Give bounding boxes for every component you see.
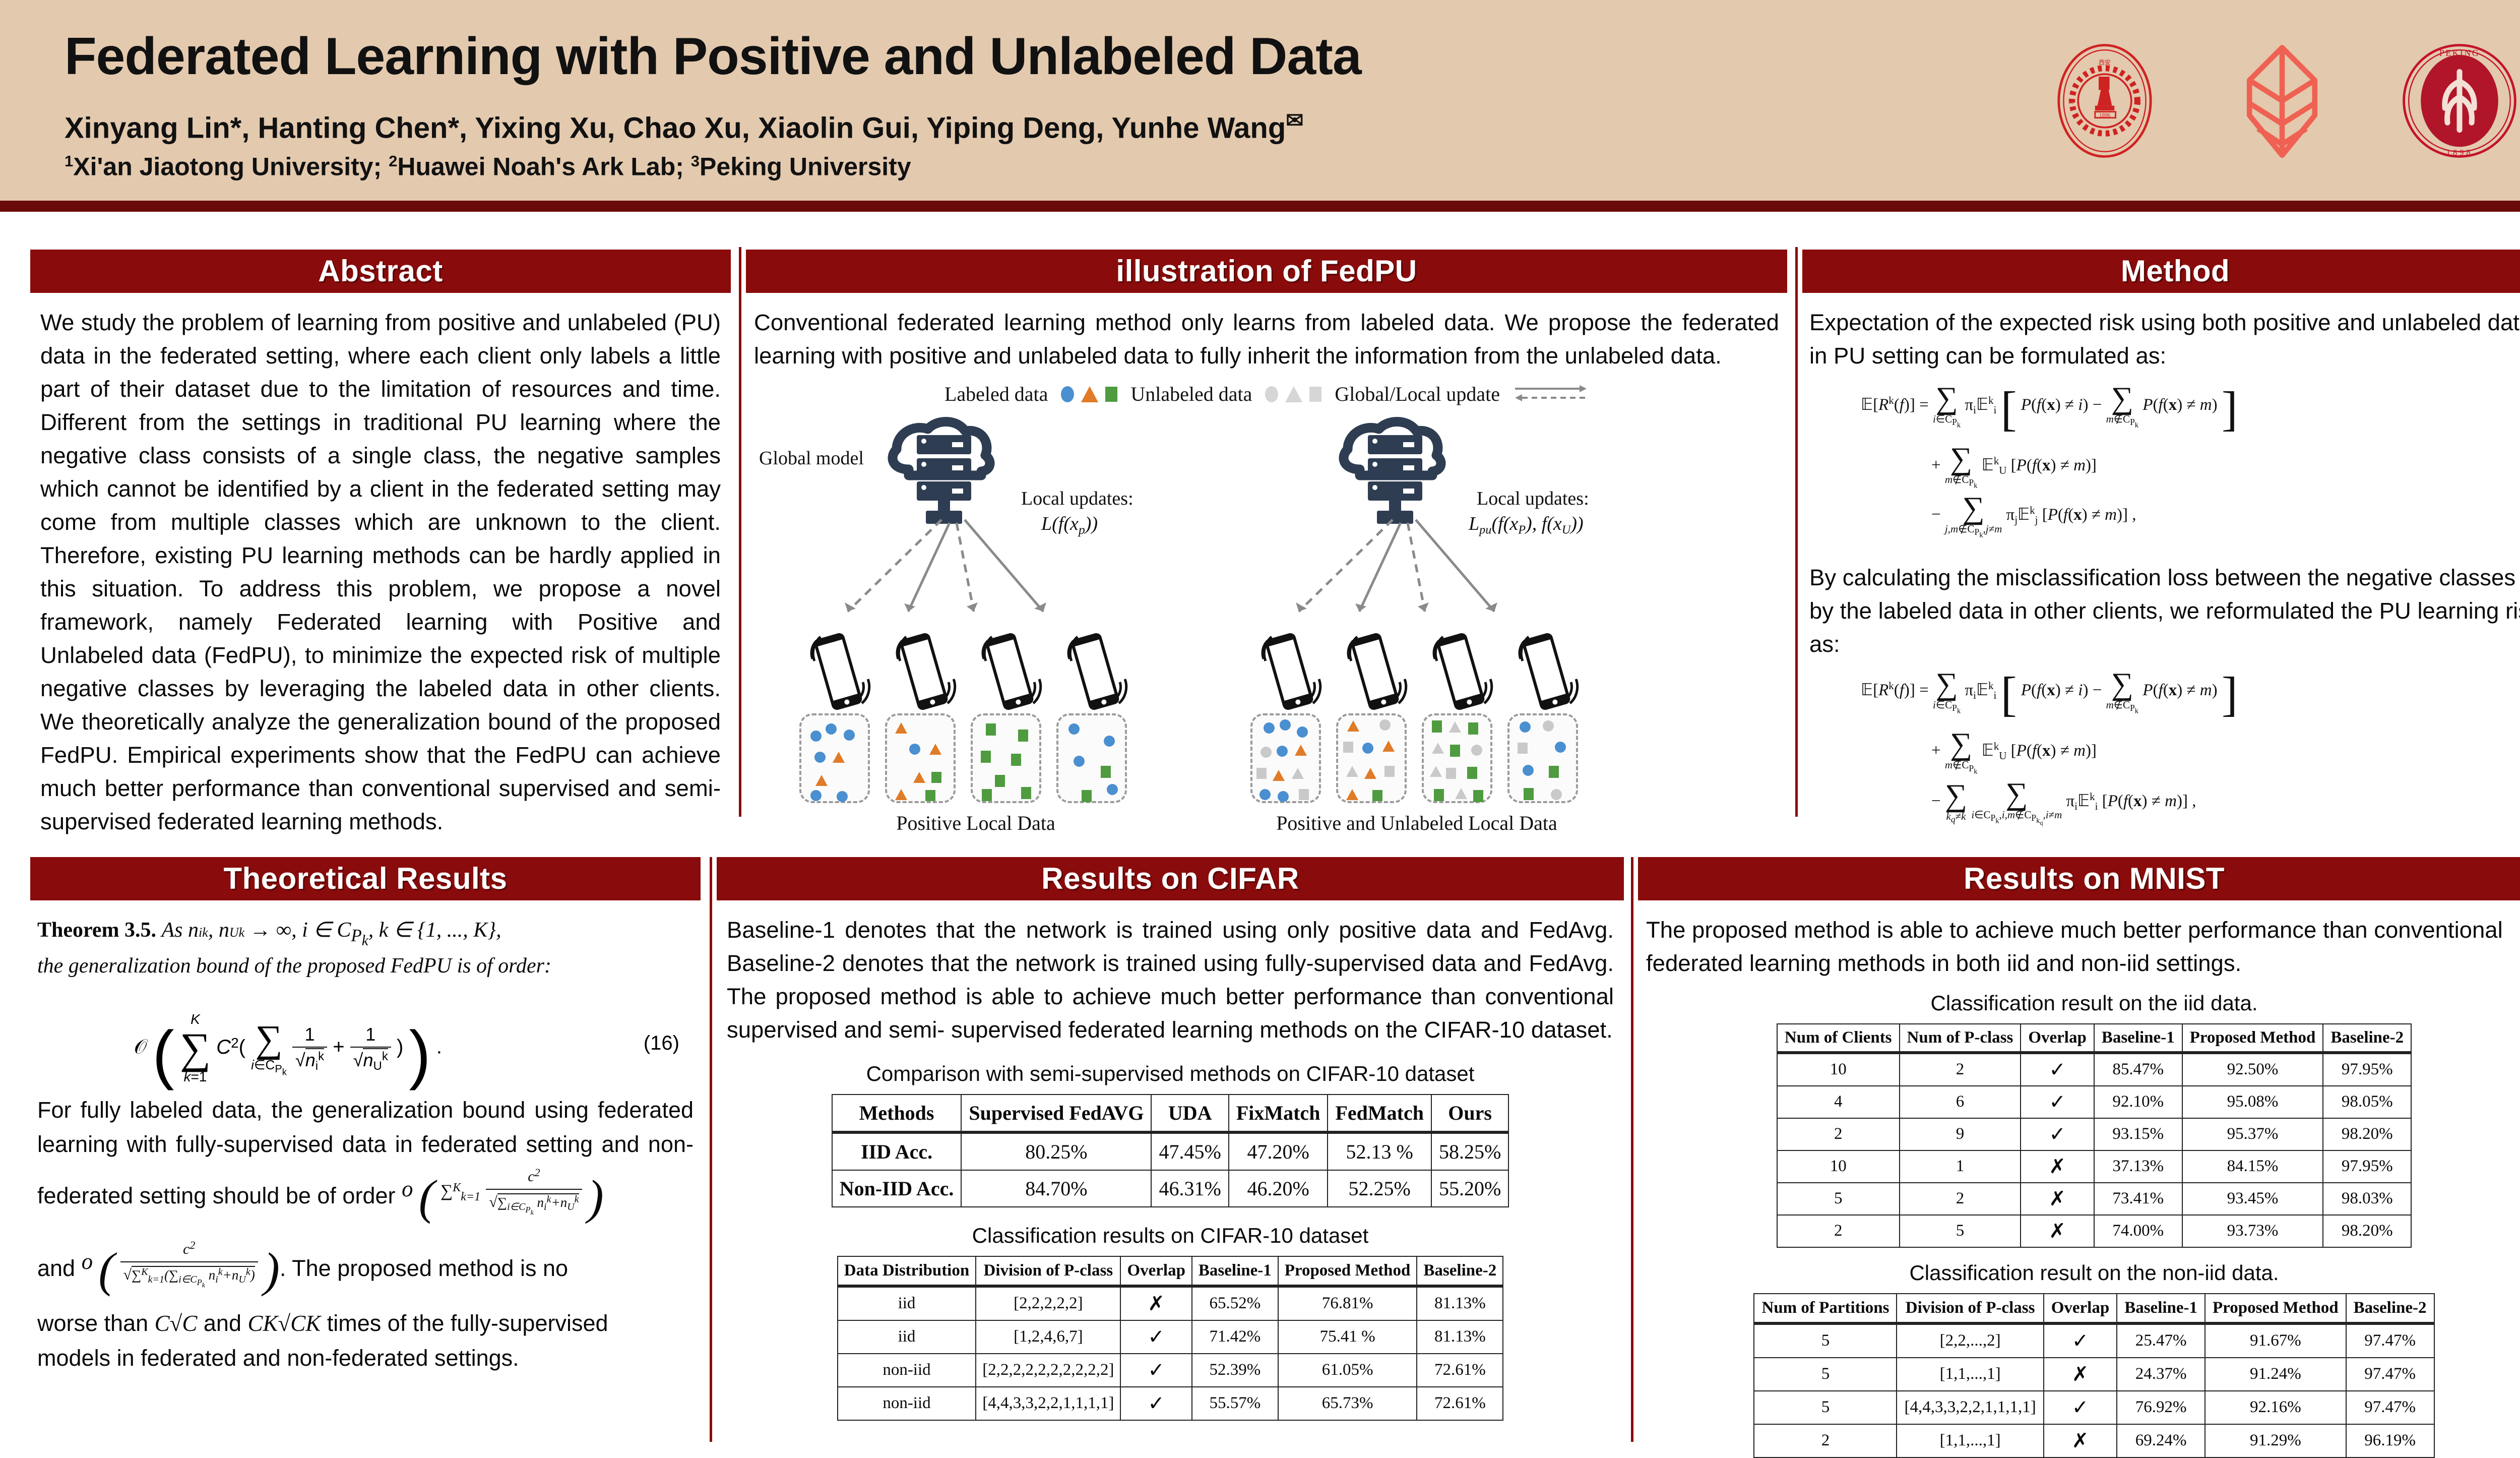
column-header: Proposed Method — [2205, 1294, 2346, 1323]
right-diagram-caption: Positive and Unlabeled Local Data — [1253, 811, 1581, 835]
cifar-text: Baseline-1 denotes that the network is t… — [720, 914, 1621, 1047]
table-cell: 2 — [1777, 1215, 1900, 1247]
table-cell: 10 — [1777, 1150, 1900, 1183]
table-cell: non-iid — [838, 1354, 976, 1387]
left-update-arrows — [814, 513, 1077, 629]
fedpu-figure: Labeled data Unlabeled data Global/Local… — [749, 382, 1784, 765]
theoretical-text-g: models in federated and non-federated se… — [37, 1345, 519, 1371]
column-header: Baseline-2 — [2323, 1024, 2411, 1053]
column-header: Baseline-2 — [1417, 1256, 1503, 1286]
table-cell: [2,2,...,2] — [1897, 1323, 2043, 1358]
table-cell: 92.10% — [2094, 1086, 2182, 1118]
method-text-2: By calculating the misclassification los… — [1805, 561, 2520, 661]
gray-square-icon — [1309, 387, 1321, 402]
theoretical-text-c: . The proposed method is no — [280, 1255, 568, 1281]
gray-triangle-icon — [1285, 386, 1302, 402]
table-cell: 25.47% — [2117, 1323, 2205, 1358]
column-header: Baseline-1 — [2094, 1024, 2182, 1053]
column-header: Num of Clients — [1777, 1024, 1900, 1053]
cifar-classification-table: Data DistributionDivision of P-classOver… — [837, 1256, 1503, 1421]
column-header: Division of P-class — [976, 1256, 1120, 1286]
table-cell: 58.25% — [1431, 1132, 1508, 1170]
table-row: 52✗73.41%93.45%98.03% — [1777, 1183, 2411, 1215]
theoretical-text-f: times of the fully-supervised — [327, 1310, 608, 1336]
theorem-equation: 𝒪 ( K∑k=1 C2( ∑i∈CPk 1√nik + 1√nUk ) ) .… — [33, 992, 698, 1093]
table-cell: 72.61% — [1417, 1354, 1503, 1387]
table-cell: ✗ — [1120, 1286, 1191, 1320]
table-row: 46✓92.10%95.08%98.05% — [1777, 1086, 2411, 1118]
affiliation-3: Peking University — [700, 153, 911, 181]
column-header: Num of P-class — [1900, 1024, 2021, 1053]
order-expression-2: o ( c2 √∑Kk=1(∑i∈CPk nik+nUk) ) — [82, 1234, 280, 1306]
column-header: Overlap — [1120, 1256, 1191, 1286]
table-cell: 73.41% — [2094, 1183, 2182, 1215]
table-cell: 5 — [1754, 1358, 1897, 1391]
panel-illustration: illustration of FedPU Conventional feder… — [746, 250, 1787, 765]
table-cell: 74.00% — [2094, 1215, 2182, 1247]
column-header: Baseline-2 — [2346, 1294, 2434, 1323]
affiliation-marker-2: 2 — [389, 152, 397, 170]
legend-labeled-label: Labeled data — [944, 382, 1048, 406]
table-cell: 80.25% — [961, 1132, 1151, 1170]
table-cell: 95.08% — [2182, 1086, 2323, 1118]
cross-icon: ✗ — [2049, 1187, 2066, 1210]
right-client-phone-4 — [1514, 624, 1579, 719]
table-cell: 98.20% — [2323, 1118, 2411, 1150]
affiliation-marker-3: 3 — [691, 152, 700, 170]
column-header: Baseline-1 — [1192, 1256, 1278, 1286]
table-cell: 52.39% — [1192, 1354, 1278, 1387]
header-text-block: Federated Learning with Positive and Unl… — [65, 29, 1627, 181]
column-header: Baseline-1 — [2117, 1294, 2205, 1323]
check-icon: ✓ — [1148, 1325, 1165, 1349]
panel-theoretical: Theoretical Results Theorem 3.5. As nik,… — [30, 857, 701, 1375]
institution-logos: 1896 西安 交 大 — [2044, 40, 2520, 161]
equation-number: (16) — [644, 1030, 679, 1056]
huawei-logo — [2222, 40, 2343, 161]
table-cell: ✗ — [2021, 1150, 2094, 1183]
left-diagram-caption: Positive Local Data — [870, 811, 1082, 835]
cross-icon: ✗ — [2049, 1220, 2066, 1243]
column-header: Division of P-class — [1897, 1294, 2043, 1323]
table-cell: 46.20% — [1229, 1170, 1328, 1207]
table-cell: [2,2,2,2,2] — [976, 1286, 1120, 1320]
table-cell: ✗ — [2021, 1215, 2094, 1247]
poster-header: Federated Learning with Positive and Unl… — [0, 0, 2520, 212]
table-cell: ✓ — [1120, 1387, 1191, 1420]
table-row: 101✗37.13%84.15%97.95% — [1777, 1150, 2411, 1183]
panel-method: Method Expectation of the expected risk … — [1802, 250, 2520, 826]
table-row: 25✗74.00%93.73%98.20% — [1777, 1215, 2411, 1247]
author-names: Xinyang Lin*, Hanting Chen*, Yixing Xu, … — [65, 112, 1286, 145]
table-cell: 5 — [1900, 1215, 2021, 1247]
abstract-text: We study the problem of learning from po… — [33, 306, 728, 838]
table-cell: 2 — [1900, 1053, 2021, 1086]
table-cell: 9 — [1900, 1118, 2021, 1150]
table-cell: 1 — [1900, 1150, 2021, 1183]
table-cell: 97.95% — [2323, 1150, 2411, 1183]
table-cell: 91.67% — [2205, 1323, 2346, 1358]
illustration-heading: illustration of FedPU — [746, 250, 1787, 293]
column-divider-3 — [710, 857, 712, 1442]
table-cell: 72.61% — [1417, 1387, 1503, 1420]
gray-circle-icon — [1265, 386, 1278, 402]
column-header: UDA — [1151, 1095, 1228, 1132]
cross-icon: ✗ — [2072, 1429, 2089, 1452]
table-cell: 97.47% — [2346, 1391, 2434, 1424]
table-row: non-iid[4,4,3,3,2,2,1,1,1,1]✓55.57%65.73… — [838, 1387, 1503, 1420]
check-icon: ✓ — [2049, 1123, 2066, 1146]
fedpu-architecture-diagram: Global model Local updates: L(f(xp)) — [749, 412, 1784, 765]
table-cell: 2 — [1900, 1183, 2021, 1215]
column-header: Methods — [832, 1095, 962, 1132]
table-cell: 97.47% — [2346, 1323, 2434, 1358]
table-cell: [1,1,...,1] — [1897, 1358, 2043, 1391]
legend-unlabeled-label: Unlabeled data — [1130, 382, 1252, 406]
table-cell: ✓ — [2021, 1118, 2094, 1150]
table-row: 29✓93.15%95.37%98.20% — [1777, 1118, 2411, 1150]
blue-circle-icon — [1061, 386, 1074, 402]
table-cell: 46.31% — [1151, 1170, 1228, 1207]
table-cell: 97.95% — [2323, 1053, 2411, 1086]
table-header-row: MethodsSupervised FedAVGUDAFixMatchFedMa… — [832, 1095, 1509, 1132]
table-cell: 47.45% — [1151, 1132, 1228, 1170]
table-cell: 84.70% — [961, 1170, 1151, 1207]
right-update-arrows — [1266, 513, 1528, 629]
table-row: IID Acc.80.25%47.45%47.20%52.13 %58.25% — [832, 1132, 1509, 1170]
cifar-table2-caption: Classification results on CIFAR-10 datas… — [720, 1224, 1621, 1248]
table-cell: 37.13% — [2094, 1150, 2182, 1183]
mnist-table1-caption: Classification result on the iid data. — [1641, 991, 2520, 1015]
right-client-phone-1 — [1256, 624, 1322, 719]
table-header-row: Data DistributionDivision of P-classOver… — [838, 1256, 1503, 1286]
right-client-phone-3 — [1428, 624, 1493, 719]
bound-expression-2: CK√CK — [248, 1311, 321, 1336]
table-cell: 2 — [1754, 1424, 1897, 1457]
table-row: iid[2,2,2,2,2]✗65.52%76.81%81.13% — [838, 1286, 1503, 1320]
left-client-phone-4 — [1062, 624, 1128, 719]
column-header: Overlap — [2021, 1024, 2094, 1053]
table-cell: 69.24% — [2117, 1424, 2205, 1457]
right-data-box-4 — [1507, 713, 1578, 803]
theorem-statement: Theorem 3.5. As nik, nUk → ∞, i ∈ CPk, k… — [33, 914, 698, 981]
table-cell: 76.92% — [2117, 1391, 2205, 1424]
green-square-icon — [1105, 387, 1117, 402]
table-cell: 55.20% — [1431, 1170, 1508, 1207]
bound-expression-1: C√C — [155, 1311, 198, 1336]
svg-text:1898: 1898 — [2446, 148, 2473, 157]
table-cell: iid — [838, 1286, 976, 1320]
left-data-box-2 — [885, 713, 956, 803]
column-header: Overlap — [2044, 1294, 2117, 1323]
table-cell: 84.15% — [2182, 1150, 2323, 1183]
legend-unlabeled-glyphs — [1265, 386, 1321, 402]
table-cell: ✓ — [2044, 1391, 2117, 1424]
method-heading: Method — [1802, 250, 2520, 293]
panel-abstract: Abstract We study the problem of learnin… — [30, 250, 731, 852]
check-icon: ✓ — [2072, 1396, 2089, 1419]
theoretical-text-e: and — [204, 1310, 241, 1336]
table-cell: [1,1,...,1] — [1897, 1424, 2043, 1457]
envelope-icon: ✉ — [1286, 108, 1303, 132]
left-data-box-4 — [1056, 713, 1127, 803]
right-client-phone-2 — [1342, 624, 1408, 719]
theoretical-text-b: and — [37, 1255, 75, 1281]
table-cell: [2,2,2,2,2,2,2,2,2,2] — [976, 1354, 1120, 1387]
left-client-phone-2 — [891, 624, 957, 719]
svg-text:1896: 1896 — [2099, 112, 2111, 118]
column-header: Data Distribution — [838, 1256, 976, 1286]
column-header: Supervised FedAVG — [961, 1095, 1151, 1132]
column-divider-2 — [1795, 247, 1798, 817]
table-cell: 61.05% — [1278, 1354, 1417, 1387]
column-header: FixMatch — [1229, 1095, 1328, 1132]
right-local-updates-label: Local updates: — [1477, 488, 1589, 510]
check-icon: ✓ — [1148, 1359, 1165, 1382]
table-cell: 98.20% — [2323, 1215, 2411, 1247]
cifar-table1-caption: Comparison with semi-supervised methods … — [720, 1062, 1621, 1086]
table-row: 5[1,1,...,1]✗24.37%91.24%97.47% — [1754, 1358, 2434, 1391]
right-data-box-3 — [1422, 713, 1492, 803]
affiliation-marker-1: 1 — [65, 152, 73, 170]
page-title: Federated Learning with Positive and Unl… — [65, 29, 1627, 84]
table-cell: IID Acc. — [832, 1132, 962, 1170]
illustration-text: Conventional federated learning method o… — [749, 306, 1784, 373]
panel-cifar: Results on CIFAR Baseline-1 denotes that… — [717, 857, 1624, 1421]
table-cell: 5 — [1777, 1183, 1900, 1215]
left-client-phone-1 — [805, 624, 871, 719]
table-cell: [1,2,4,6,7] — [976, 1320, 1120, 1354]
theoretical-heading: Theoretical Results — [30, 857, 701, 900]
column-header: FedMatch — [1328, 1095, 1431, 1132]
table-cell: 92.50% — [2182, 1053, 2323, 1086]
table-cell: iid — [838, 1320, 976, 1354]
right-data-box-2 — [1336, 713, 1407, 803]
table-cell: ✗ — [2044, 1424, 2117, 1457]
legend-labeled-glyphs — [1061, 386, 1117, 402]
column-header: Num of Partitions — [1754, 1294, 1897, 1323]
table-cell: ✓ — [1120, 1320, 1191, 1354]
table-cell: 52.13 % — [1328, 1132, 1431, 1170]
table-cell: 55.57% — [1192, 1387, 1278, 1420]
table-cell: ✗ — [2021, 1183, 2094, 1215]
xjtu-seal-logo: 1896 西安 交 大 — [2044, 40, 2165, 161]
table-cell: 10 — [1777, 1053, 1900, 1086]
left-client-phone-3 — [977, 624, 1042, 719]
table-row: 5[4,4,3,3,2,2,1,1,1,1]✓76.92%92.16%97.47… — [1754, 1391, 2434, 1424]
global-model-label: Global model — [759, 447, 864, 469]
method-text-1: Expectation of the expected risk using b… — [1805, 306, 2520, 373]
table-row: 5[2,2,...,2]✓25.47%91.67%97.47% — [1754, 1323, 2434, 1358]
update-arrows-icon — [1513, 382, 1589, 407]
table-cell: 65.52% — [1192, 1286, 1278, 1320]
table-cell: ✓ — [2021, 1086, 2094, 1118]
table-cell: 47.20% — [1229, 1132, 1328, 1170]
table-row: 2[1,1,...,1]✗69.24%91.29%96.19% — [1754, 1424, 2434, 1457]
right-data-box-1 — [1250, 713, 1321, 803]
table-cell: [4,4,3,3,2,2,1,1,1,1] — [976, 1387, 1120, 1420]
svg-text:大: 大 — [2136, 98, 2141, 105]
table-header-row: Num of ClientsNum of P-classOverlapBasel… — [1777, 1024, 2411, 1053]
table-header-row: Num of PartitionsDivision of P-classOver… — [1754, 1294, 2434, 1323]
check-icon: ✓ — [2049, 1090, 2066, 1114]
svg-text:PEKING: PEKING — [2439, 48, 2480, 58]
table-cell: 24.37% — [2117, 1358, 2205, 1391]
table-cell: 81.13% — [1417, 1320, 1503, 1354]
table-cell: 2 — [1777, 1118, 1900, 1150]
check-icon: ✓ — [1148, 1392, 1165, 1415]
cross-icon: ✗ — [2049, 1155, 2066, 1178]
table-cell: ✓ — [2021, 1053, 2094, 1086]
table-cell: 95.37% — [2182, 1118, 2323, 1150]
table-cell: non-iid — [838, 1387, 976, 1420]
table-cell: 6 — [1900, 1086, 2021, 1118]
column-divider-4 — [1631, 857, 1633, 1442]
figure-legend: Labeled data Unlabeled data Global/Local… — [749, 382, 1784, 407]
theoretical-text-d: worse than — [37, 1310, 148, 1336]
method-equation-2: 𝔼[Rk(f)] = ∑i∈CPk πi𝔼ki [ P(f(x) ≠ i) − … — [1805, 664, 2520, 826]
left-data-box-3 — [971, 713, 1041, 803]
table-cell: 91.24% — [2205, 1358, 2346, 1391]
mnist-heading: Results on MNIST — [1638, 857, 2520, 900]
cifar-heading: Results on CIFAR — [717, 857, 1624, 900]
table-row: non-iid[2,2,2,2,2,2,2,2,2,2]✓52.39%61.05… — [838, 1354, 1503, 1387]
svg-text:西安: 西安 — [2099, 58, 2111, 66]
table-cell: 85.47% — [2094, 1053, 2182, 1086]
table-cell: 5 — [1754, 1323, 1897, 1358]
author-list: Xinyang Lin*, Hanting Chen*, Yixing Xu, … — [65, 108, 1627, 145]
table-row: Non-IID Acc.84.70%46.31%46.20%52.25%55.2… — [832, 1170, 1509, 1207]
left-local-updates-label: Local updates: — [1021, 488, 1133, 510]
table-cell: 75.41 % — [1278, 1320, 1417, 1354]
left-data-box-1 — [799, 713, 870, 803]
table-cell: 92.16% — [2205, 1391, 2346, 1424]
column-header: Proposed Method — [2182, 1024, 2323, 1053]
check-icon: ✓ — [2072, 1329, 2089, 1353]
affiliation-list: 1Xi'an Jiaotong University; 2Huawei Noah… — [65, 152, 1627, 181]
legend-update-label: Global/Local update — [1335, 382, 1500, 406]
table-cell: Non-IID Acc. — [832, 1170, 962, 1207]
affiliation-2: Huawei Noah's Ark Lab; — [397, 153, 690, 181]
column-divider-1 — [739, 247, 741, 817]
column-header: Proposed Method — [1278, 1256, 1417, 1286]
column-header: Ours — [1431, 1095, 1508, 1132]
mnist-iid-table: Num of ClientsNum of P-classOverlapBasel… — [1777, 1023, 2412, 1248]
theoretical-text-block: For fully labeled data, the generalizati… — [33, 1093, 698, 1375]
table-cell: 93.45% — [2182, 1183, 2323, 1215]
table-row: 102✓85.47%92.50%97.95% — [1777, 1053, 2411, 1086]
table-cell: 91.29% — [2205, 1424, 2346, 1457]
theorem-label: Theorem 3.5. — [37, 919, 156, 942]
table-cell: 96.19% — [2346, 1424, 2434, 1457]
table-cell: 97.47% — [2346, 1358, 2434, 1391]
mnist-text: The proposed method is able to achieve m… — [1641, 914, 2520, 980]
table-cell: 76.81% — [1278, 1286, 1417, 1320]
cifar-semisupervised-table: MethodsSupervised FedAVGUDAFixMatchFedMa… — [832, 1094, 1509, 1207]
method-equation-1: 𝔼[Rk(f)] = ∑i∈CPk πi𝔼ki [ P(f(x) ≠ i) − … — [1805, 379, 2520, 539]
table-cell: [4,4,3,3,2,2,1,1,1,1] — [1897, 1391, 2043, 1424]
table-cell: 71.42% — [1192, 1320, 1278, 1354]
table-cell: 5 — [1754, 1391, 1897, 1424]
table-cell: 93.15% — [2094, 1118, 2182, 1150]
abstract-heading: Abstract — [30, 250, 731, 293]
table-cell: 65.73% — [1278, 1387, 1417, 1420]
table-cell: ✓ — [2044, 1323, 2117, 1358]
table-cell: ✓ — [1120, 1354, 1191, 1387]
cross-icon: ✗ — [2072, 1363, 2089, 1386]
mnist-noniid-table: Num of PartitionsDivision of P-classOver… — [1753, 1293, 2434, 1458]
check-icon: ✓ — [2049, 1058, 2066, 1081]
table-cell: 52.25% — [1328, 1170, 1431, 1207]
table-row: iid[1,2,4,6,7]✓71.42%75.41 %81.13% — [838, 1320, 1503, 1354]
orange-triangle-icon — [1081, 386, 1098, 402]
table-cell: 93.73% — [2182, 1215, 2323, 1247]
mnist-table2-caption: Classification result on the non-iid dat… — [1641, 1261, 2520, 1285]
order-expression-1: o ( ∑Kk=1 c2 √∑i∈CPk nik+nUk ) — [402, 1161, 604, 1234]
table-cell: ✗ — [2044, 1358, 2117, 1391]
svg-text:交: 交 — [2068, 98, 2073, 105]
table-cell: 81.13% — [1417, 1286, 1503, 1320]
peking-university-seal-logo: PEKING 1898 — [2399, 40, 2520, 161]
cross-icon: ✗ — [1148, 1292, 1165, 1315]
table-cell: 98.03% — [2323, 1183, 2411, 1215]
table-cell: 98.05% — [2323, 1086, 2411, 1118]
affiliation-1: Xi'an Jiaotong University; — [73, 153, 389, 181]
panel-mnist: Results on MNIST The proposed method is … — [1638, 857, 2520, 1458]
table-cell: 4 — [1777, 1086, 1900, 1118]
